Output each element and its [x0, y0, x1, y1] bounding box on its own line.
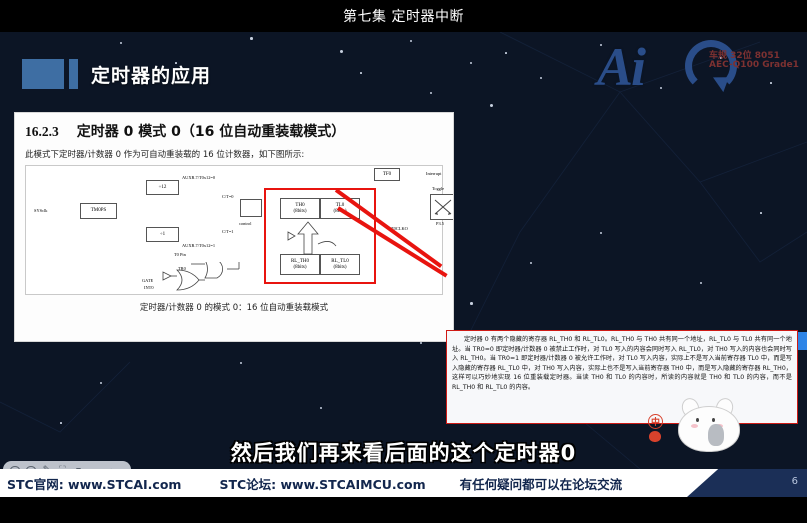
diagram-logic-gates [161, 262, 251, 294]
mascot-eye-right [712, 418, 715, 422]
star-dot [360, 72, 362, 74]
diagram-box-tf0: TF0 [374, 168, 400, 181]
diagram-label-aux-hi: AUXR.7/T0x12=0 [182, 175, 215, 180]
diagram-label-rl-th0-bits: (8bits) [293, 265, 306, 271]
star-dot [250, 37, 253, 40]
diagram-label-th0-bits: (8bits) [293, 209, 306, 215]
diagram-box-div12: ÷12 [146, 180, 179, 195]
diagram-label-ct0: C/T=0 [222, 194, 234, 199]
diagram-label-interrupt: Interrupt [426, 171, 441, 176]
diagram-box-div1: ÷1 [146, 227, 179, 242]
star-dot [320, 407, 322, 409]
star-dot [490, 104, 493, 107]
video-title: 第七集 定时器中断 [343, 6, 464, 26]
diagram-label-tf0: TF0 [383, 172, 391, 178]
screenshot-root: 第七集 定时器中断 [0, 0, 807, 523]
star-dot [60, 422, 62, 424]
star-dot [470, 62, 472, 64]
diagram-label-int0: INT0 [144, 285, 154, 290]
star-dot [505, 52, 507, 54]
logo-line2: AEC-Q100 Grade1 [709, 60, 799, 70]
aiq-logo: Ai 车规 32位 8051 AEC-Q100 Grade1 [597, 36, 797, 102]
diagram-control-switch [240, 199, 262, 217]
footer-forum-site[interactable]: STC论坛: www.STCAIMCU.com [219, 474, 425, 493]
diagram-label-ct1: C/T=1 [222, 229, 234, 234]
star-dot [600, 232, 602, 234]
star-dot [240, 362, 242, 364]
star-dot [100, 382, 102, 384]
star-dot [430, 92, 432, 94]
star-dot [120, 42, 122, 44]
diagram-label-t0pin: T0 Pin [174, 252, 186, 257]
diagram-box-rl-tl0: RL_TL0 (8bits) [320, 254, 360, 275]
diagram-box-toggle [430, 194, 454, 220]
video-title-bar: 第七集 定时器中断 [0, 0, 807, 32]
star-dot [410, 40, 412, 42]
section-intro: 此模式下定时器/计数器 0 作为可自动重装载的 16 位计数器，如下图所示: [25, 148, 443, 160]
diagram-label-aux-lo: AUXR.7/T0x12=1 [182, 243, 215, 248]
star-dot [760, 212, 762, 214]
diagram-box-tm0ps: TM0PS [80, 203, 117, 219]
star-dot [700, 282, 702, 284]
cn-badge-label: 中 [648, 414, 663, 429]
diagram-label-sysclk: SYSclk [34, 208, 47, 213]
footer-hint: 有任何疑问都可以在论坛交流 [460, 474, 623, 493]
diagram-label-gate: GATE [142, 278, 153, 283]
diagram-label-tm0ps: TM0PS [91, 208, 107, 214]
diagram-box-rl-th0: RL_TH0 (8bits) [280, 254, 320, 275]
footer-bar: STC官网: www.STCAI.com STC论坛: www.STCAIMCU… [0, 469, 807, 497]
diagram-label-toggle: Toggle [432, 186, 444, 191]
star-dot [540, 77, 542, 79]
diagram-box-th0: TH0 (8bits) [280, 198, 320, 219]
callout-note-text: 定时器 0 有两个隐藏的寄存器 RL_TH0 和 RL_TL0。RL_TH0 与… [452, 335, 792, 393]
bottom-black-strip [0, 497, 807, 523]
diagram-label-toggle-sub: P3.5 [436, 221, 444, 226]
toggle-cross-icon [431, 195, 454, 219]
star-dot [470, 302, 473, 305]
star-dot [340, 50, 343, 53]
mascot-cheek-left [691, 424, 698, 428]
heading-bar-decor [69, 59, 78, 89]
diagram-reload-arrow-icon [284, 218, 344, 256]
heading-square-decor [22, 59, 64, 89]
mascot-eye-left [696, 418, 699, 422]
diagram-label-control: control [239, 221, 251, 226]
diagram-label-div12: ÷12 [159, 185, 167, 191]
star-dot [530, 262, 532, 264]
figure-caption: 定时器/计数器 0 的模式 0：16 位自动重装载模式 [25, 301, 443, 313]
page-number: 6 [792, 476, 798, 487]
footer-corner-decor [687, 469, 807, 497]
diagram-label-div1: ÷1 [160, 232, 165, 238]
star-dot [420, 342, 422, 344]
slide-heading-block: 定时器的应用 [22, 58, 211, 90]
section-number: 16.2.3 [25, 124, 59, 140]
document-heading: 16.2.3 定时器 0 模式 0（16 位自动重装载模式） [25, 121, 443, 141]
timer-block-diagram: SYSclk TM0PS ÷12 ÷1 AUXR.7/T0x12=0 AUXR.… [25, 165, 443, 295]
section-title: 定时器 0 模式 0（16 位自动重装载模式） [77, 121, 345, 141]
diagram-label-rl-tl0-bits: (8bits) [333, 265, 346, 271]
footer-official-site[interactable]: STC官网: www.STCAI.com [7, 474, 181, 493]
logo-ai-text: Ai [597, 36, 644, 98]
slide-heading-text: 定时器的应用 [91, 61, 211, 88]
